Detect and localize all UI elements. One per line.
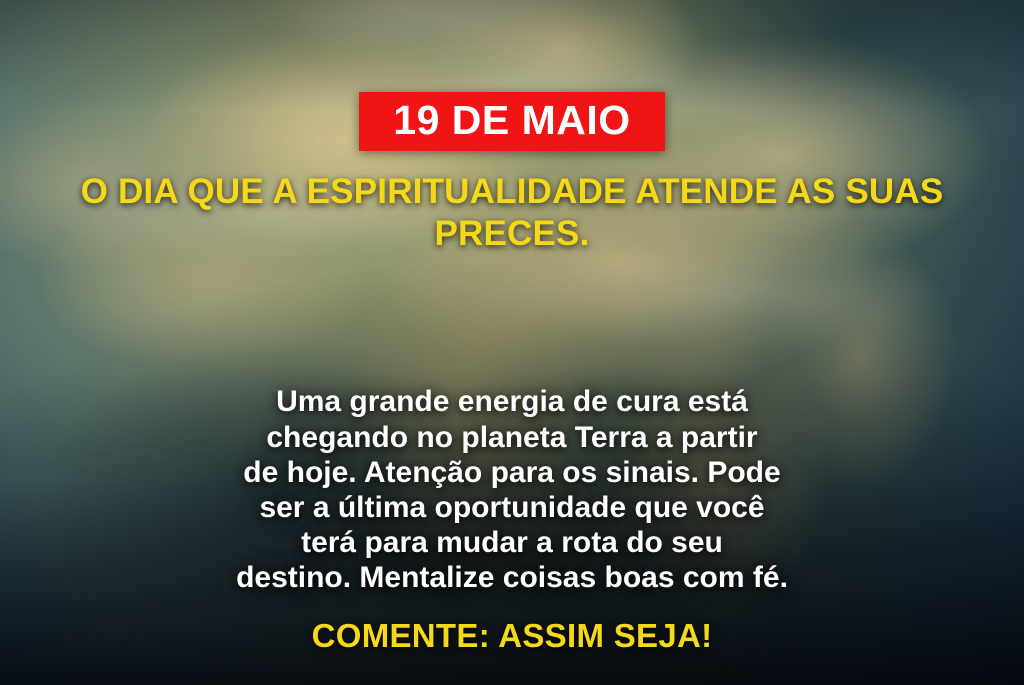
date-banner: 19 DE MAIO bbox=[359, 92, 664, 151]
headline: O DIA QUE A ESPIRITUALIDADE ATENDE AS SU… bbox=[47, 171, 977, 255]
body-line-4: ser a última oportunidade que você bbox=[236, 490, 788, 525]
headline-line-1: O DIA QUE A ESPIRITUALIDADE bbox=[81, 172, 627, 211]
body-line-1: Uma grande energia de cura está bbox=[236, 384, 788, 419]
body-line-6: destino. Mentalize coisas boas com fé. bbox=[236, 560, 788, 595]
body-line-5: terá para mudar a rota do seu bbox=[236, 525, 788, 560]
body-paragraph: Uma grande energia de cura está chegando… bbox=[220, 384, 804, 595]
poster-content: 19 DE MAIO O DIA QUE A ESPIRITUALIDADE A… bbox=[0, 0, 1024, 685]
call-to-action-text: COMENTE: ASSIM SEJA! bbox=[312, 617, 713, 655]
body-line-3: de hoje. Atenção para os sinais. Pode bbox=[236, 455, 788, 490]
body-line-2: chegando no planeta Terra a partir bbox=[236, 420, 788, 455]
poster-image: 19 DE MAIO O DIA QUE A ESPIRITUALIDADE A… bbox=[0, 0, 1024, 685]
